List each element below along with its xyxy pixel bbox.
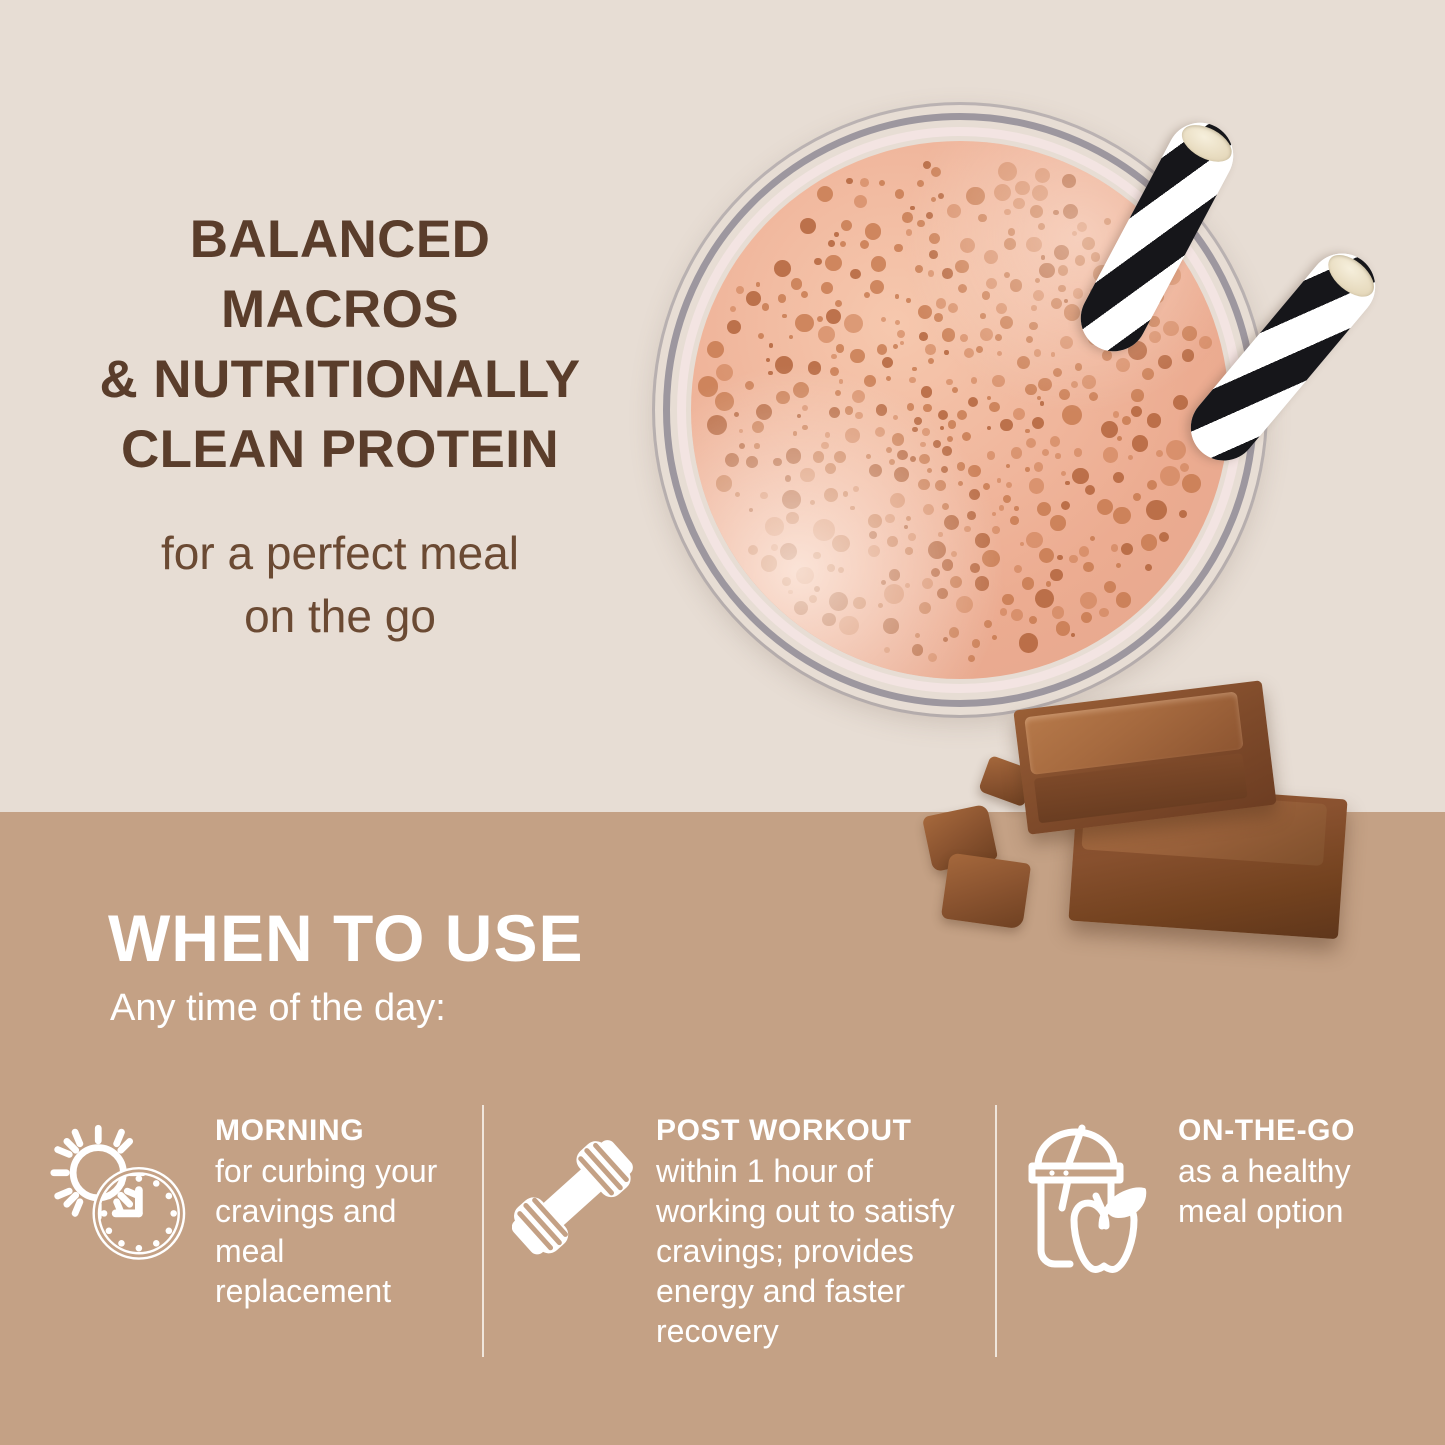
product-infographic: BALANCED MACROS & NUTRITIONALLY CLEAN PR… (0, 0, 1445, 1445)
column-divider-2 (995, 1105, 997, 1357)
usage-description-on-the-go: as a healthy meal option (1178, 1151, 1418, 1231)
sun-clock-icon (48, 1120, 193, 1270)
headline-line-4: CLEAN PROTEIN (30, 415, 650, 485)
subheadline-line-2: on the go (30, 585, 650, 648)
chocolate-chunk (941, 853, 1031, 930)
when-to-use-subtitle: Any time of the day: (110, 985, 446, 1031)
usage-text-on-the-go: ON-THE-GO as a healthy meal option (1178, 1112, 1418, 1231)
usage-column-on-the-go: ON-THE-GO as a healthy meal option (1022, 1112, 1422, 1282)
chocolate-pieces-image (905, 690, 1365, 990)
column-divider-1 (482, 1105, 484, 1357)
usage-title-post-workout: POST WORKOUT (656, 1112, 966, 1150)
usage-description-morning: for curbing your cravings and meal repla… (215, 1151, 463, 1311)
usage-text-post-workout: POST WORKOUT within 1 hour of working ou… (656, 1112, 966, 1351)
headline: BALANCED MACROS & NUTRITIONALLY CLEAN PR… (30, 205, 650, 485)
headline-line-1: BALANCED (30, 205, 650, 275)
headline-line-2: MACROS (30, 275, 650, 345)
usage-title-morning: MORNING (215, 1112, 463, 1150)
dumbbell-icon (512, 1138, 634, 1258)
usage-description-post-workout: within 1 hour of working out to satisfy … (656, 1151, 966, 1351)
subheadline: for a perfect meal on the go (30, 522, 650, 648)
usage-text-morning: MORNING for curbing your cravings and me… (215, 1112, 463, 1311)
when-to-use-title: WHEN TO USE (108, 903, 583, 973)
usage-title-on-the-go: ON-THE-GO (1178, 1112, 1418, 1150)
headline-line-3: & NUTRITIONALLY (30, 345, 650, 415)
usage-column-morning: MORNING for curbing your cravings and me… (48, 1112, 468, 1311)
smoothie-cup-apple-icon (1022, 1122, 1160, 1282)
subheadline-line-1: for a perfect meal (30, 522, 650, 585)
usage-column-post-workout: POST WORKOUT within 1 hour of working ou… (512, 1112, 972, 1351)
